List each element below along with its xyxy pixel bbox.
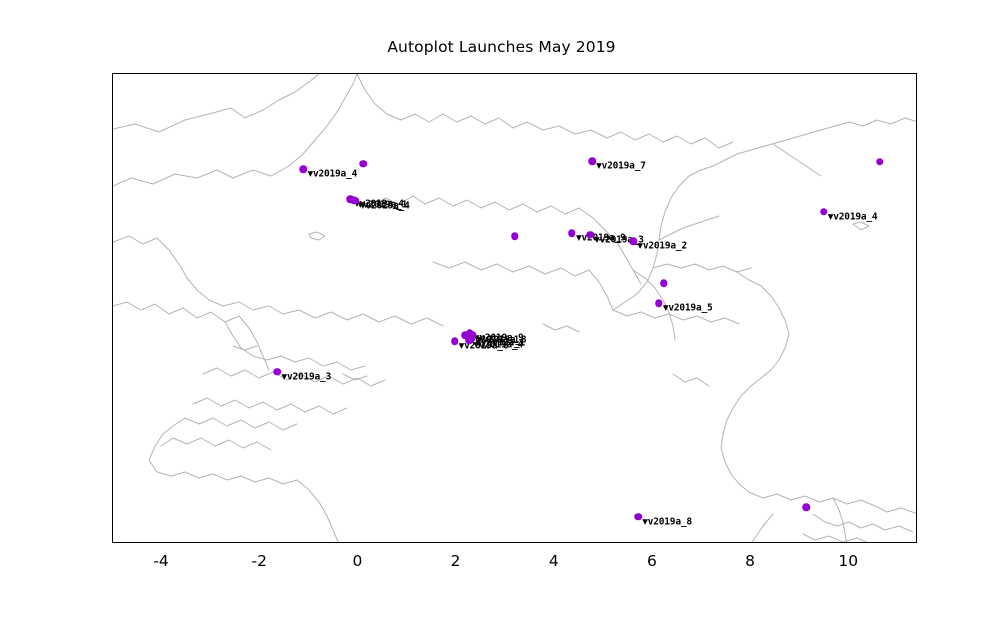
x-axis-tick — [849, 542, 850, 543]
scatter-point-label: ▼v2019a_7 — [596, 161, 646, 172]
scatter-point-label: ▼v2019a_4 — [473, 340, 523, 351]
x-axis-label: 0 — [352, 552, 362, 570]
x-axis-minor-tick — [113, 542, 114, 543]
scatter-point-label: ▼v2019a_8 — [642, 516, 692, 527]
scatter-plot-area: ▼v2019a_4▼v2019a_4▼v2019a_1▼v2019a_4▼v20… — [112, 73, 917, 543]
y-axis-minor-tick — [112, 524, 113, 525]
scatter-point[interactable] — [274, 368, 282, 376]
scatter-point[interactable] — [630, 237, 638, 245]
scatter-point[interactable] — [586, 231, 594, 239]
x-axis-minor-tick — [604, 542, 605, 543]
scatter-point-label: ▼v2019a_4 — [828, 211, 878, 222]
y-axis-tick — [112, 74, 113, 75]
x-axis-minor-tick — [898, 542, 899, 543]
scatter-point[interactable] — [655, 299, 663, 307]
x-axis-tick — [555, 542, 556, 543]
scatter-point[interactable] — [300, 165, 308, 173]
x-axis-label: 4 — [549, 552, 559, 570]
x-axis-tick — [653, 542, 654, 543]
scatter-point-label: ▼v2019a_5 — [663, 303, 713, 314]
x-axis-minor-tick — [800, 542, 801, 543]
x-axis-tick — [162, 542, 163, 543]
x-axis-minor-tick — [702, 542, 703, 543]
y-axis-minor-tick — [112, 224, 113, 225]
y-axis-tick — [112, 474, 113, 475]
scatter-point[interactable] — [360, 160, 368, 168]
scatter-point-label: ▼v2019a_4 — [360, 200, 410, 211]
x-axis-label: 2 — [451, 552, 461, 570]
figure-canvas: Autoplot Launches May 2019 — [0, 0, 1003, 633]
scatter-point[interactable] — [634, 513, 642, 521]
x-axis-label: 6 — [647, 552, 657, 570]
x-axis-tick — [358, 542, 359, 543]
scatter-point[interactable] — [451, 337, 459, 345]
scatter-point-label: ▼v2019a_4 — [307, 169, 357, 180]
x-axis-minor-tick — [211, 542, 212, 543]
scatter-point[interactable] — [820, 208, 828, 216]
scatter-point[interactable] — [568, 229, 576, 237]
y-axis-tick — [112, 374, 113, 375]
scatter-point[interactable] — [802, 503, 810, 511]
x-axis-minor-tick — [309, 542, 310, 543]
x-axis-label: 8 — [745, 552, 755, 570]
x-axis-label: -4 — [153, 552, 168, 570]
scatter-point[interactable] — [876, 158, 884, 166]
scatter-point[interactable] — [660, 279, 668, 287]
y-axis-tick — [112, 174, 113, 175]
x-axis-label: -2 — [252, 552, 267, 570]
scatter-point[interactable] — [466, 336, 474, 344]
x-axis-minor-tick — [408, 542, 409, 543]
scatter-point-label: ▼v2019a_3 — [281, 371, 331, 382]
x-axis-tick — [751, 542, 752, 543]
scatter-point[interactable] — [511, 232, 519, 240]
x-axis-tick — [260, 542, 261, 543]
scatter-point-label: ▼v2019a_2 — [637, 241, 687, 252]
y-axis-tick — [112, 274, 113, 275]
scatter-point[interactable] — [352, 197, 360, 205]
y-axis-minor-tick — [112, 124, 113, 125]
x-axis-label: 10 — [838, 552, 858, 570]
scatter-point[interactable] — [588, 157, 596, 165]
x-axis-tick — [457, 542, 458, 543]
coastline-basemap — [113, 74, 917, 543]
y-axis-minor-tick — [112, 424, 113, 425]
y-axis-minor-tick — [112, 324, 113, 325]
page-title: Autoplot Launches May 2019 — [0, 38, 1003, 56]
x-axis-minor-tick — [506, 542, 507, 543]
